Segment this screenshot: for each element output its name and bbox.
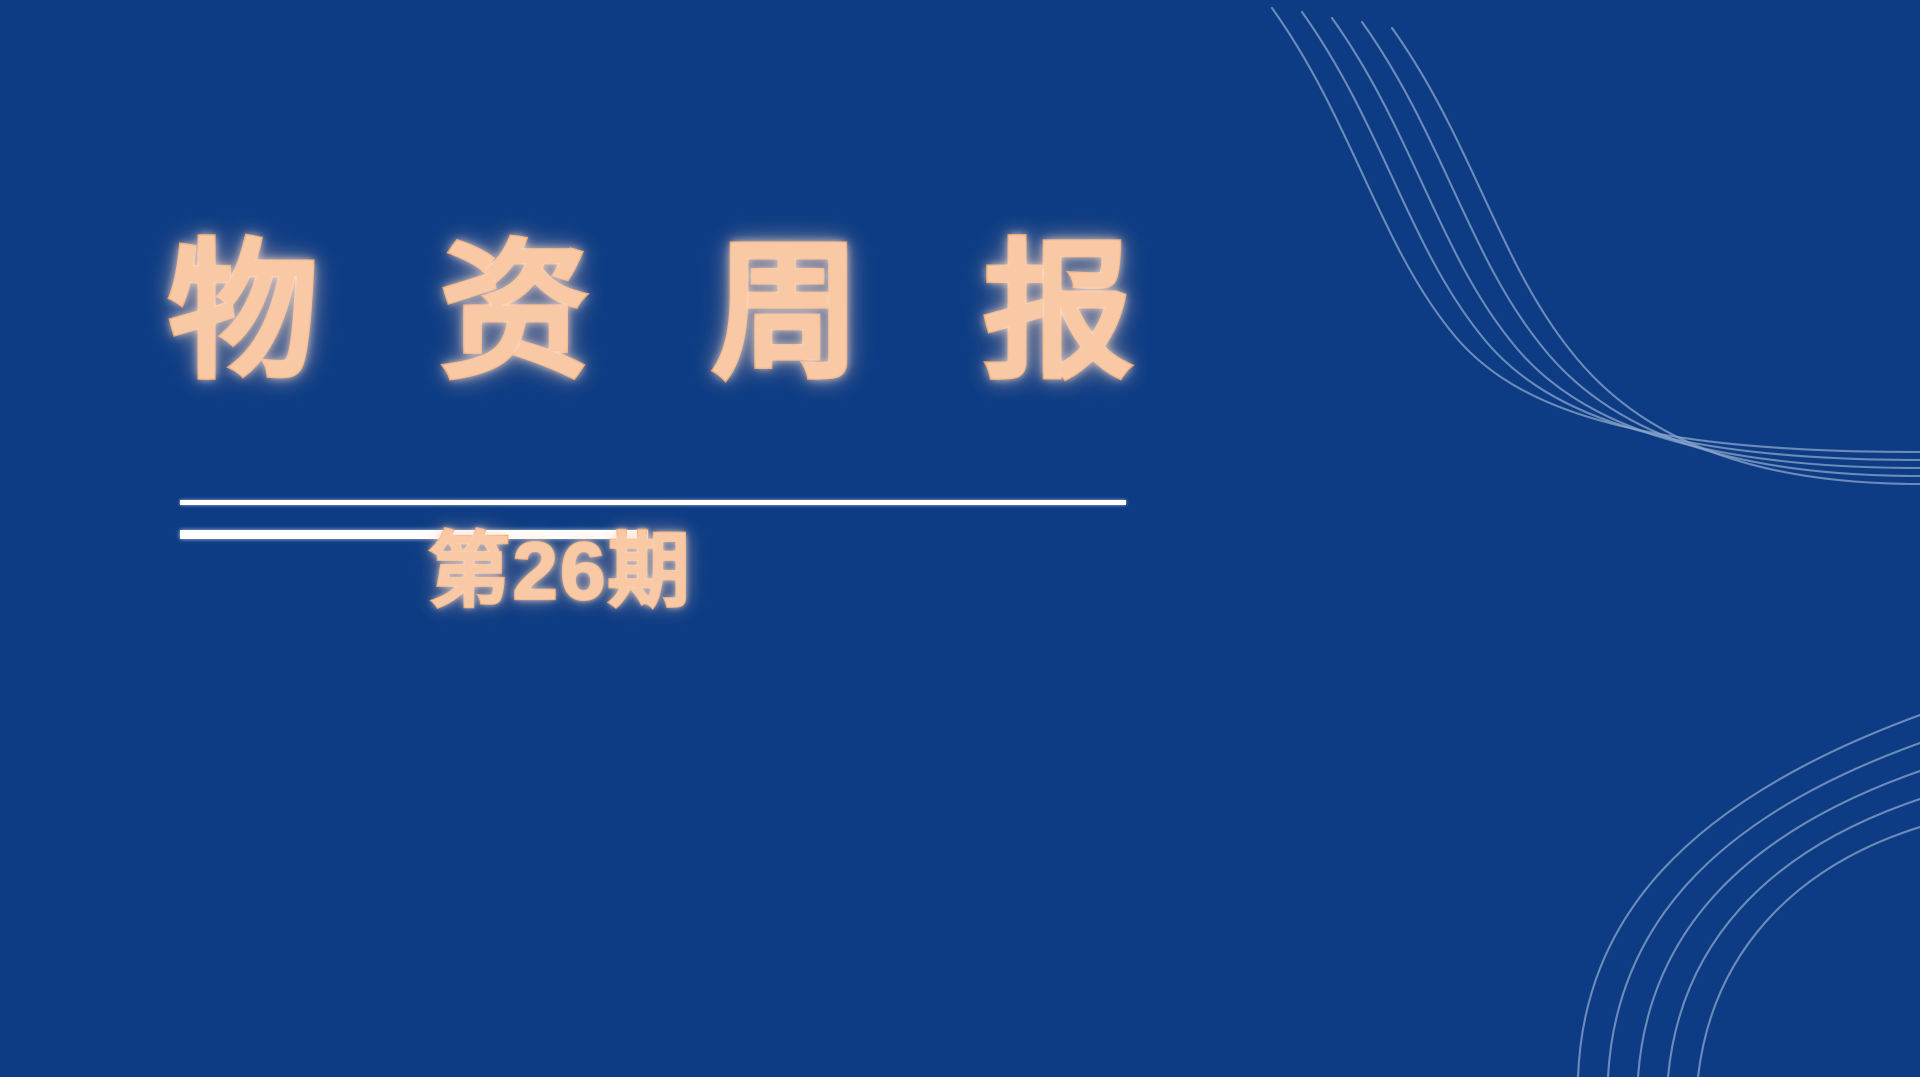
wave-arc-5 <box>1698 827 1920 1077</box>
title-rule-long <box>180 500 1126 505</box>
title-block: 物 资 周 报 <box>168 228 1168 396</box>
issue-subtitle: 第26期 <box>428 525 691 619</box>
wave-arc-4 <box>1668 799 1920 1077</box>
wave-lines-top-right-decoration <box>1260 0 1920 500</box>
wave-arc-3 <box>1638 771 1920 1077</box>
wave-line-3 <box>1332 18 1920 468</box>
wave-line-5 <box>1392 28 1920 484</box>
wave-line-1 <box>1272 8 1920 452</box>
wave-line-4 <box>1362 22 1920 476</box>
wave-line-2 <box>1302 12 1920 460</box>
wave-lines-bottom-right-decoration <box>1260 597 1920 1077</box>
wave-arc-1 <box>1578 715 1920 1077</box>
title-slide: 物 资 周 报 第26期 <box>0 0 1920 1077</box>
wave-arc-2 <box>1608 743 1920 1077</box>
subtitle-block: 第26期 <box>180 525 940 619</box>
page-title: 物 资 周 报 <box>168 228 1168 396</box>
